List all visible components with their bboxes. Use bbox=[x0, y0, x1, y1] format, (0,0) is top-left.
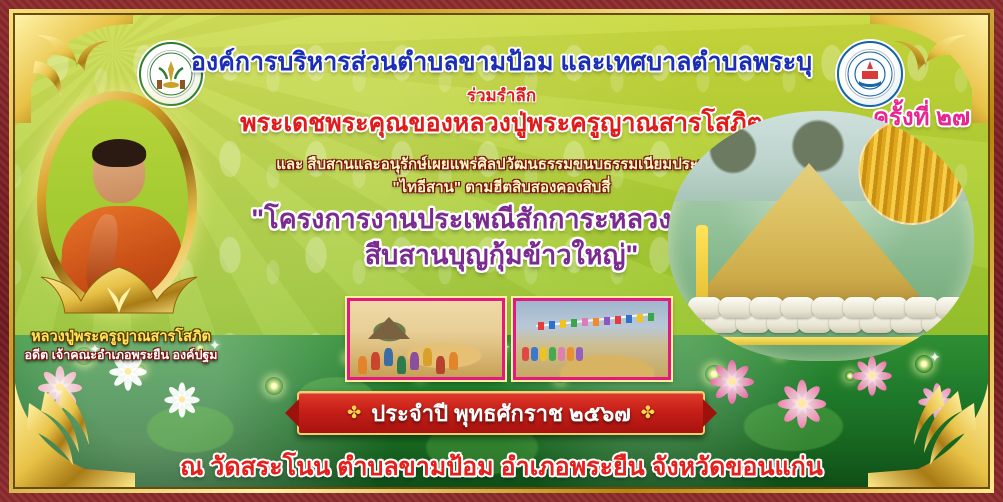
banner-stage: ✦✦✦✦✦✦✦ bbox=[15, 15, 988, 487]
tree-center bbox=[778, 113, 858, 179]
mural-figure bbox=[423, 348, 432, 366]
portrait-caption-title: อดีต เจ้าคณะอำเภอพระยืน องค์ปฐม bbox=[19, 345, 223, 365]
festival-flag bbox=[549, 321, 555, 329]
festival-flag bbox=[582, 318, 588, 326]
rice-sack bbox=[874, 297, 908, 318]
rice-sack bbox=[905, 297, 939, 318]
year-ribbon-banner: ✤ ประจำปี พุทธศักราช ๒๕๖๗ ✤ bbox=[297, 391, 705, 435]
rice-sack bbox=[936, 297, 970, 318]
rice-sack bbox=[812, 297, 846, 318]
festival-crowd-figure bbox=[522, 347, 529, 361]
festival-crowd-figure bbox=[531, 347, 538, 361]
mural-figure bbox=[449, 352, 458, 370]
festival-crowd-figure bbox=[558, 347, 565, 361]
rice-sack bbox=[843, 297, 877, 318]
mural-figure bbox=[371, 352, 380, 370]
rice-mound-scene bbox=[668, 111, 974, 361]
mural-figure bbox=[358, 356, 367, 374]
mural-figure bbox=[410, 352, 419, 370]
festival-flag bbox=[571, 319, 577, 327]
mural-hut bbox=[368, 317, 410, 339]
year-text: ประจำปี พุทธศักราช ๒๕๖๗ bbox=[371, 396, 631, 431]
festival-flag bbox=[615, 316, 621, 324]
festival-flag bbox=[626, 315, 632, 323]
gold-flame-ornament bbox=[33, 263, 205, 321]
event-banner: ✦✦✦✦✦✦✦ bbox=[0, 0, 1003, 502]
festival-flag bbox=[637, 314, 643, 322]
ribbon-ornament-left-icon: ✤ bbox=[347, 403, 361, 423]
yellow-ribbon bbox=[686, 337, 944, 345]
festival-flag bbox=[604, 317, 610, 325]
festival-crowd-figure bbox=[549, 347, 556, 361]
rice-sack bbox=[688, 297, 722, 318]
festival-crowd-figure bbox=[567, 347, 574, 361]
ribbon-ornament-right-icon: ✤ bbox=[641, 403, 655, 423]
mural-figure bbox=[436, 356, 445, 374]
monk-portrait bbox=[37, 91, 197, 313]
tree-left bbox=[698, 119, 768, 181]
festival-flag bbox=[538, 322, 544, 330]
rice-sack-row bbox=[674, 293, 964, 333]
festival-crowd-figure bbox=[540, 347, 547, 361]
festival-flag bbox=[593, 318, 599, 326]
mural-figure bbox=[397, 356, 406, 374]
venue-line: ณ วัดสระโนน ตำบลขามป้อม อำเภอพระยืน จังห… bbox=[15, 447, 988, 487]
rice-stalks-inset bbox=[858, 117, 966, 225]
photo-mural-village-painting bbox=[347, 298, 505, 380]
rice-sack bbox=[750, 297, 784, 318]
monk-hair bbox=[92, 139, 146, 167]
mural-figure bbox=[384, 348, 393, 366]
festival-flag bbox=[560, 320, 566, 328]
festival-crowd-figure bbox=[576, 347, 583, 361]
rice-sack bbox=[719, 297, 753, 318]
rice-sack bbox=[781, 297, 815, 318]
festival-flag bbox=[648, 313, 654, 321]
photo-rice-mound-festival bbox=[513, 298, 671, 380]
organization-headline: องค์การบริหารส่วนตำบลขามป้อม และเทศบาลตำ… bbox=[15, 49, 988, 75]
